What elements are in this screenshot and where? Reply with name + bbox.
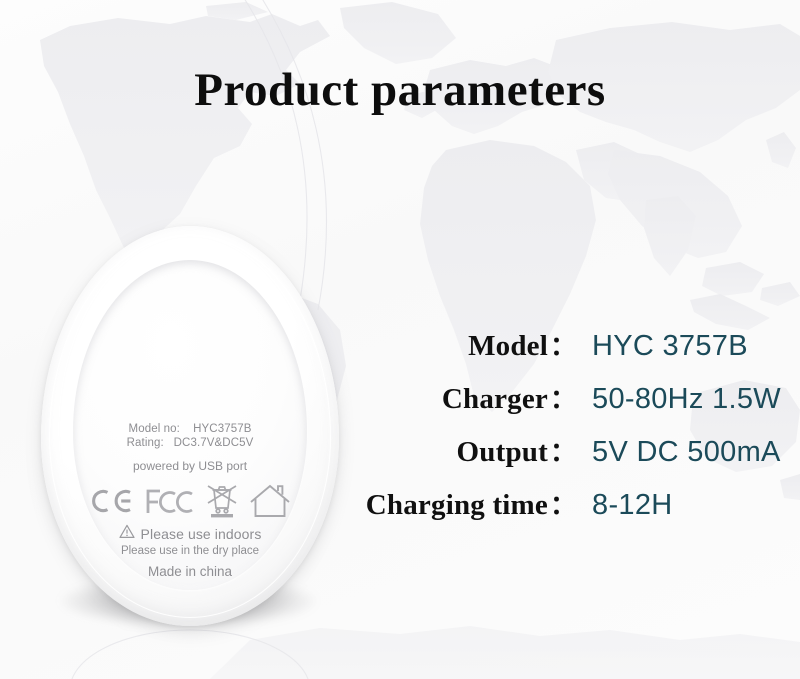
label-model-no-value: HYC3757B (193, 423, 251, 435)
spec-label-charger: Charger (352, 383, 548, 416)
label-model-no-key: Model no: (129, 423, 180, 435)
spec-value-charger: 50-80Hz 1.5W (576, 383, 781, 416)
spec-value-output: 5V DC 500mA (576, 436, 781, 469)
warning-text: Please use indoors (141, 526, 262, 542)
product-printed-label: Model no: HYC3757B Rating: DC3.7V&DC5V p… (73, 423, 307, 579)
spec-label-charging-time: Charging time (352, 489, 548, 522)
label-spacer (73, 450, 307, 459)
label-powered-by: powered by USB port (73, 459, 307, 473)
indoor-house-icon (249, 484, 291, 518)
weee-bin-icon (206, 484, 238, 518)
spec-value-charging-time: 8-12H (576, 489, 673, 522)
spec-row-output: Output ： 5V DC 500mA (352, 432, 782, 485)
page-title: Product parameters (0, 63, 800, 117)
spec-row-charging-time: Charging time ： 8-12H (352, 485, 782, 538)
product-image: Model no: HYC3757B Rating: DC3.7V&DC5V p… (33, 222, 347, 634)
spec-label-output: Output (352, 436, 548, 469)
product-label-face: Model no: HYC3757B Rating: DC3.7V&DC5V p… (73, 260, 307, 590)
warning-triangle-icon (119, 524, 135, 544)
spec-row-charger: Charger ： 50-80Hz 1.5W (352, 379, 782, 432)
label-model-no: Model no: HYC3757B (73, 423, 307, 437)
spec-row-model: Model ： HYC 3757B (352, 326, 782, 379)
spec-value-model: HYC 3757B (576, 330, 748, 363)
spec-label-model: Model (352, 330, 548, 363)
spec-colon-model: ： (548, 326, 576, 363)
label-rating: Rating: DC3.7V&DC5V (73, 437, 307, 451)
spec-colon-charger: ： (548, 379, 576, 416)
certification-icons-row (73, 485, 307, 517)
origin-text: Made in china (73, 564, 307, 579)
fcc-mark-icon (145, 488, 195, 515)
spec-colon-charging-time: ： (548, 485, 576, 522)
label-rating-value: DC3.7V&DC5V (174, 437, 254, 449)
specification-list: Model ： HYC 3757B Charger ： 50-80Hz 1.5W… (352, 326, 782, 538)
product-parameters-page: Product parameters Model no: HYC3757B Ra… (0, 0, 800, 679)
dry-place-text: Please use in the dry place (73, 545, 307, 557)
ce-mark-icon (90, 488, 134, 514)
spec-colon-output: ： (548, 432, 576, 469)
label-rating-key: Rating: (127, 437, 164, 449)
indoor-warning-row: Please use indoors (73, 524, 307, 544)
